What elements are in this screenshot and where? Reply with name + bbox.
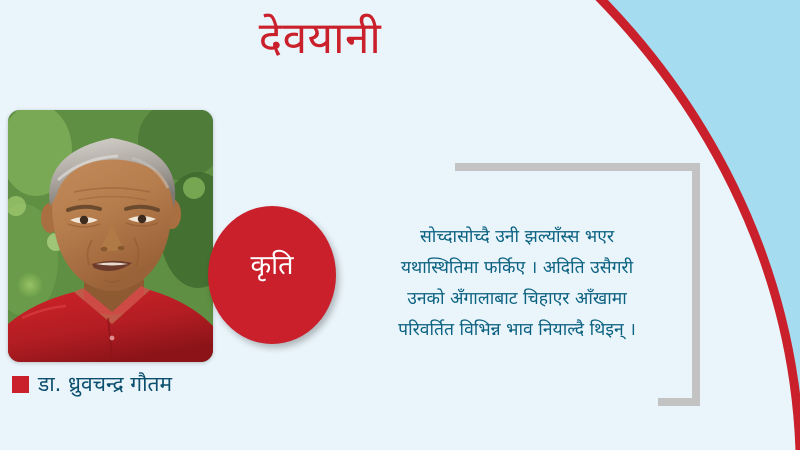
kriti-badge-label: कृति [250, 245, 293, 282]
page-title: देवयानी [0, 14, 640, 65]
byline-marker-icon [12, 376, 29, 393]
frame-top-bar [455, 163, 700, 171]
frame-bottom-bar [658, 398, 700, 406]
author-portrait [8, 110, 213, 362]
author-name: डा. ध्रुवचन्द्र गौतम [38, 370, 172, 398]
quote-line: सोच्दासोच्दै उनी झल्याँस्स भएर [352, 222, 682, 253]
quote-line: उनको अँगालाबाट चिहाएर आँखामा [352, 284, 682, 315]
author-portrait-image [8, 110, 213, 362]
kriti-badge: कृति [208, 206, 336, 344]
quote-line: यथास्थितिमा फर्किए । अदिति उसैगरी [352, 253, 682, 284]
quote-block: सोच्दासोच्दै उनी झल्याँस्स भएर यथास्थिति… [352, 222, 682, 347]
poster-canvas: देवयानी [0, 0, 800, 450]
quote-line: परिवर्तित विभिन्न भाव नियाल्दै थिइन् । [352, 315, 682, 346]
frame-right-bar [692, 163, 700, 406]
author-byline: डा. ध्रुवचन्द्र गौतम [12, 370, 172, 398]
